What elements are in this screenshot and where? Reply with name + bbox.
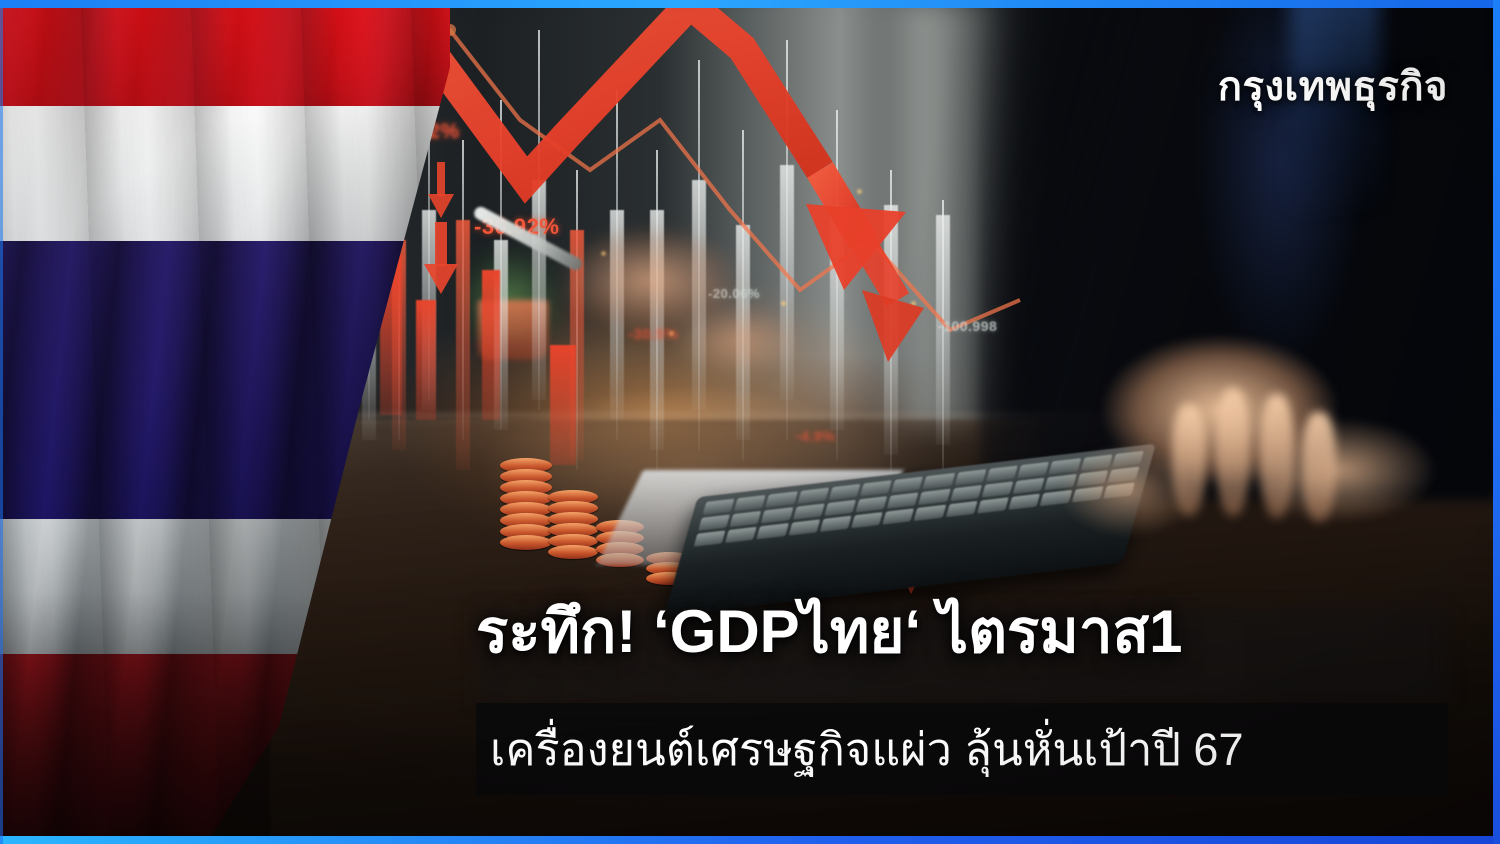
frame-border-top	[0, 0, 1500, 8]
chart-annotation-3: -100.998	[938, 318, 997, 334]
subheadline-band: เครื่องยนต์เศรษฐกิจแผ่ว ลุ้นหั่นเป้าปี 6…	[476, 703, 1448, 795]
headline-container: ระทึก! ‘GDPไทย‘ ไตรมาส1	[476, 600, 1448, 664]
brand-logo: กรุงเทพธุรกิจ	[1218, 54, 1448, 118]
hand-holding-pen	[520, 180, 850, 440]
news-cover-image: -28.02% -30.92% -100.998 -30.5% -20.06% …	[0, 0, 1500, 844]
hand-typing	[1040, 320, 1460, 610]
frame-border-right	[1493, 0, 1500, 844]
frame-border-left	[0, 0, 3, 844]
frame-border-bottom	[0, 836, 1500, 844]
headline-main: ระทึก! ‘GDPไทย‘ ไตรมาส1	[476, 600, 1448, 664]
down-arrow-icon-small	[424, 162, 458, 222]
down-arrow-icon	[422, 222, 460, 298]
headline-sub: เครื่องยนต์เศรษฐกิจแผ่ว ลุ้นหั่นเป้าปี 6…	[476, 703, 1448, 795]
